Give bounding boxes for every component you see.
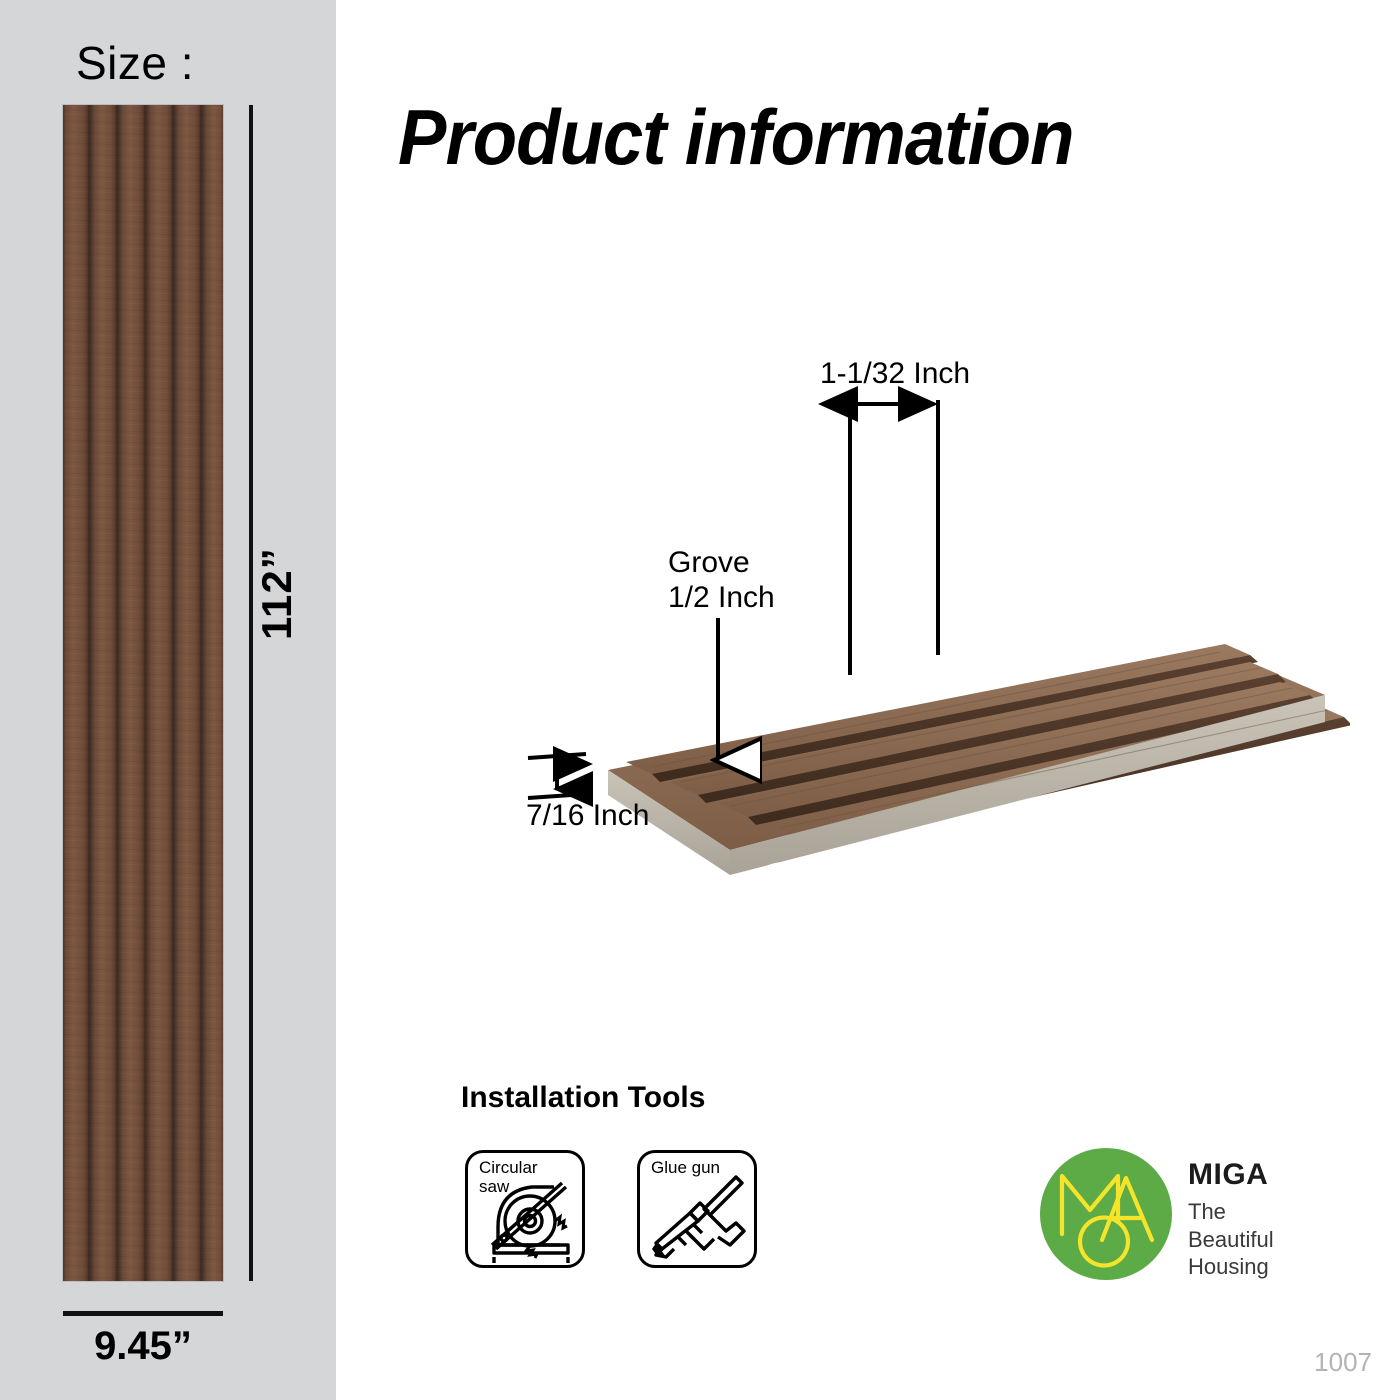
logo-text-block: MIGA The Beautiful Housing: [1188, 1158, 1274, 1281]
glue-gun-icon: [640, 1153, 760, 1271]
installation-tools-heading: Installation Tools: [461, 1081, 705, 1115]
groove-label: Grove 1/2 Inch: [668, 545, 775, 616]
width-dimension-line: [63, 1311, 223, 1316]
logo-circle-bg: [1040, 1148, 1172, 1280]
logo-circle: [1040, 1148, 1172, 1280]
tool-card-circular-saw[interactable]: Circular saw: [465, 1150, 585, 1268]
height-dimension-label: 112”: [253, 547, 301, 640]
slat-width-dimension: [850, 400, 938, 675]
corner-code: 1007: [1314, 1347, 1372, 1378]
brand-tagline: The Beautiful Housing: [1188, 1198, 1274, 1281]
size-label: Size :: [76, 36, 194, 90]
diagram-graphics: [480, 330, 1350, 930]
brand-name: MIGA: [1188, 1158, 1274, 1192]
circular-saw-icon: [468, 1153, 588, 1271]
thickness-label: 7/16 Inch: [526, 798, 649, 833]
tool-card-glue-gun[interactable]: Glue gun: [637, 1150, 757, 1268]
product-diagram: 1-1/32 Inch Grove 1/2 Inch 7/16 Inch: [480, 330, 1350, 930]
thickness-dimension: [528, 754, 586, 798]
height-dimension-line: [249, 105, 253, 1281]
width-dimension-label: 9.45”: [63, 1324, 223, 1369]
page-title: Product information: [398, 92, 1073, 183]
wood-grain-texture: [63, 105, 223, 1281]
slat-width-label: 1-1/32 Inch: [820, 356, 970, 391]
size-sidebar: Size : 112” 9.45”: [0, 0, 336, 1400]
miga-logo-mark: [1040, 1148, 1172, 1280]
product-panel-image: [63, 105, 223, 1281]
